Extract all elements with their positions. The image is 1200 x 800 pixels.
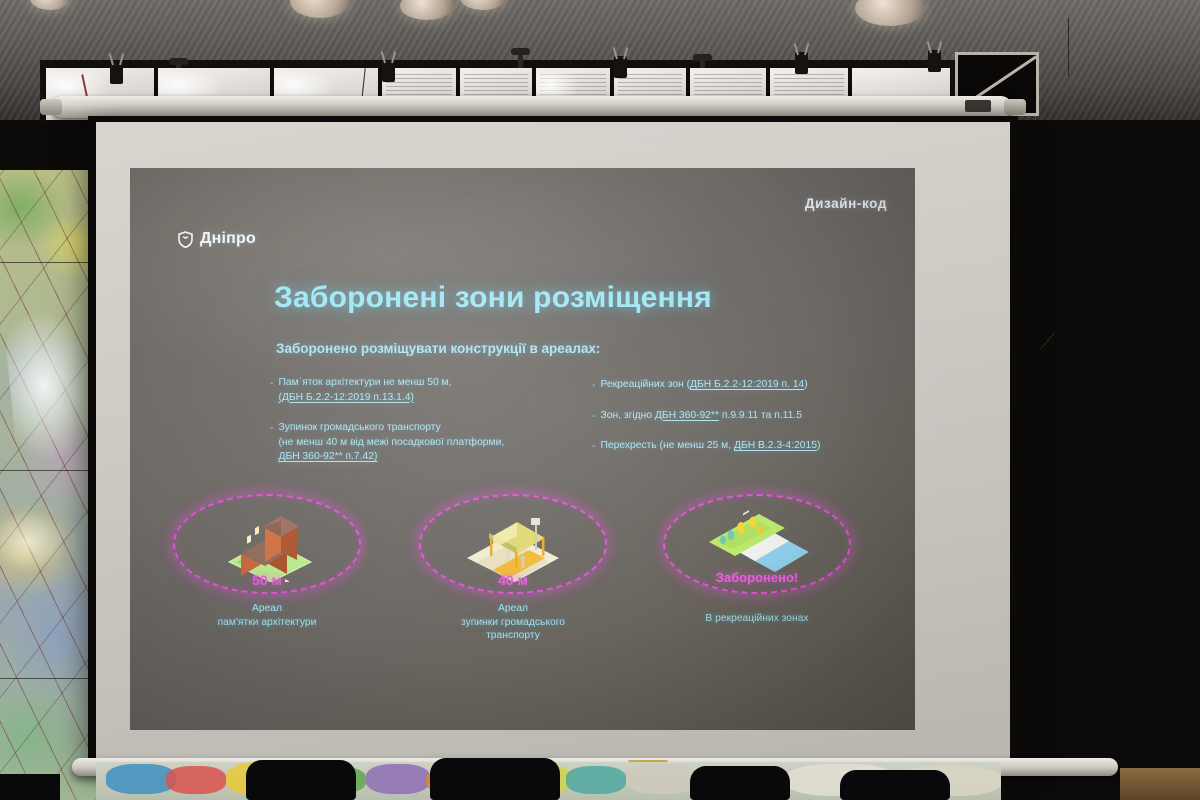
- hanging-wire: [1040, 332, 1055, 349]
- ceiling-rod-cap: [511, 48, 530, 55]
- chair-silhouette: [0, 774, 60, 800]
- chair-silhouette: [840, 770, 950, 800]
- slide-vignette: [130, 168, 915, 730]
- hanging-wire: [1068, 18, 1069, 76]
- wall-map-poster: [0, 170, 96, 800]
- roller-end-cap: [40, 99, 62, 115]
- projector-screen-roller[interactable]: [52, 96, 1012, 118]
- projected-slide: Дизайн-код Дніпро Заборонені зони розміщ…: [130, 168, 915, 730]
- roller-badge: [965, 100, 991, 112]
- chair-silhouette: [690, 766, 790, 800]
- roller-end-cap: [1004, 99, 1026, 115]
- binder-clip-icon: [928, 50, 941, 72]
- binder-clip-icon: [614, 56, 627, 78]
- chair-silhouette: [246, 760, 356, 800]
- binder-clip-icon: [110, 62, 123, 84]
- binder-clip-icon: [382, 60, 395, 82]
- chair-silhouette: [430, 758, 560, 800]
- wooden-surface: [1120, 768, 1200, 800]
- ceiling-rod-cap: [169, 58, 188, 65]
- room-photo-scene: Дизайн-код Дніпро Заборонені зони розміщ…: [0, 0, 1200, 800]
- binder-clip-icon: [795, 52, 808, 74]
- ceiling-rod-cap: [693, 54, 712, 61]
